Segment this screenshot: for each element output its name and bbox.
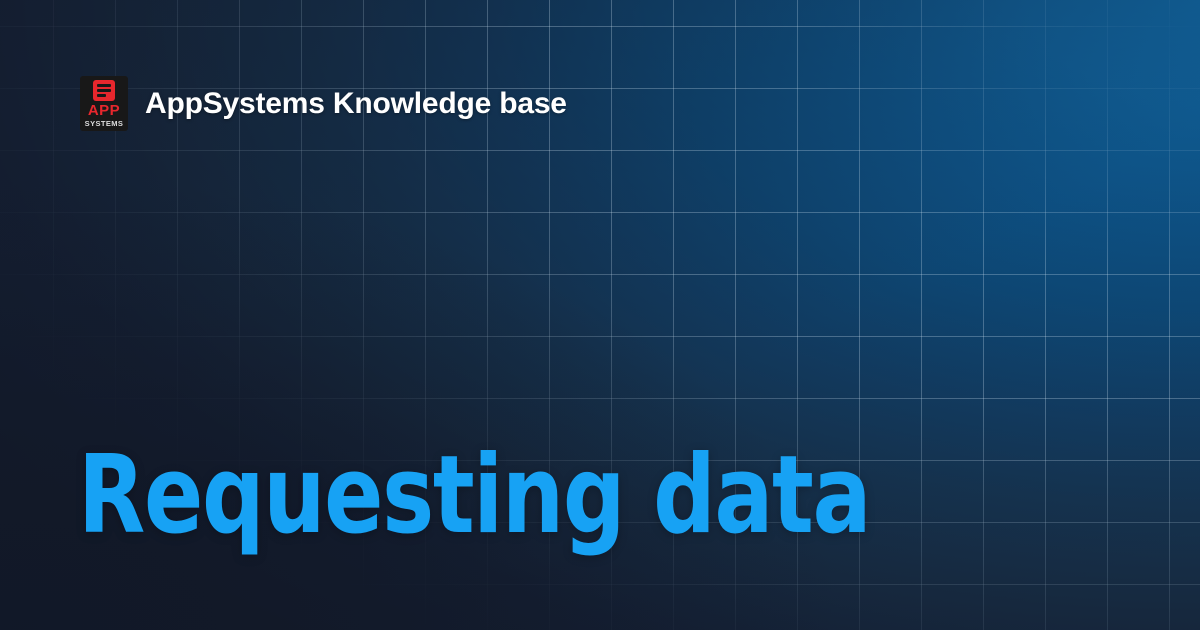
og-social-card: APP SYSTEMS AppSystems Knowledge base Re…	[0, 0, 1200, 630]
logo-wordmark-systems: SYSTEMS	[85, 118, 124, 129]
brand-header[interactable]: APP SYSTEMS AppSystems Knowledge base	[80, 76, 567, 131]
document-line-2	[97, 89, 111, 92]
document-lines-icon	[93, 80, 115, 101]
document-line-1	[97, 84, 111, 87]
logo-wordmark-app: APP	[88, 103, 120, 118]
appsystems-logo[interactable]: APP SYSTEMS	[80, 76, 128, 131]
document-line-3	[97, 94, 106, 97]
page-title: Requesting data	[78, 440, 870, 552]
site-title: AppSystems Knowledge base	[145, 87, 567, 121]
